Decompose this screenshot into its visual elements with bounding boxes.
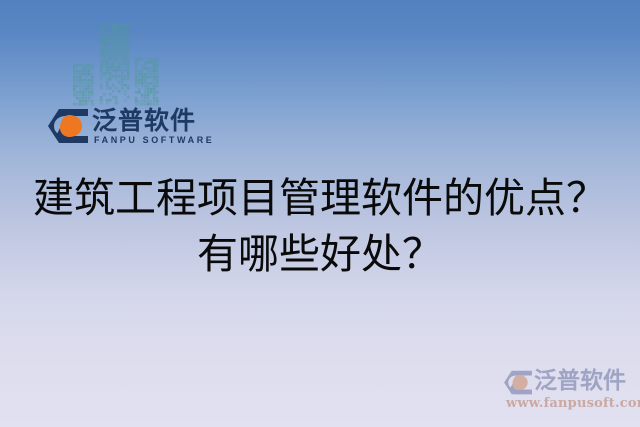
- pixel-city-skyline-icon: [73, 24, 163, 106]
- watermark: 泛普软件 www.fanpusoft.com: [503, 368, 636, 418]
- fanpu-logo-mark-watermark: [503, 370, 533, 395]
- page-title: 建筑工程项目管理软件的优点？ 有哪些好处？: [0, 170, 640, 282]
- brand-name-cn: 泛普软件: [92, 107, 196, 135]
- brand-logo: 泛普软件 FANPU SOFTWARE: [47, 105, 187, 155]
- promo-banner: 泛普软件 FANPU SOFTWARE 建筑工程项目管理软件的优点？ 有哪些好处…: [0, 0, 640, 427]
- headline-line-1: 建筑工程项目管理软件的优点？: [0, 170, 640, 226]
- headline-line-2: 有哪些好处？: [0, 226, 640, 282]
- brand-name-en: FANPU SOFTWARE: [94, 135, 214, 146]
- watermark-logo-svg: [503, 370, 533, 395]
- watermark-name-cn: 泛普软件: [534, 368, 626, 394]
- fanpu-logo-mark: [47, 108, 89, 144]
- skyline-canvas: [73, 24, 163, 106]
- fanpu-logo-mark-svg: [47, 108, 89, 144]
- watermark-url: www.fanpusoft.com: [506, 396, 640, 411]
